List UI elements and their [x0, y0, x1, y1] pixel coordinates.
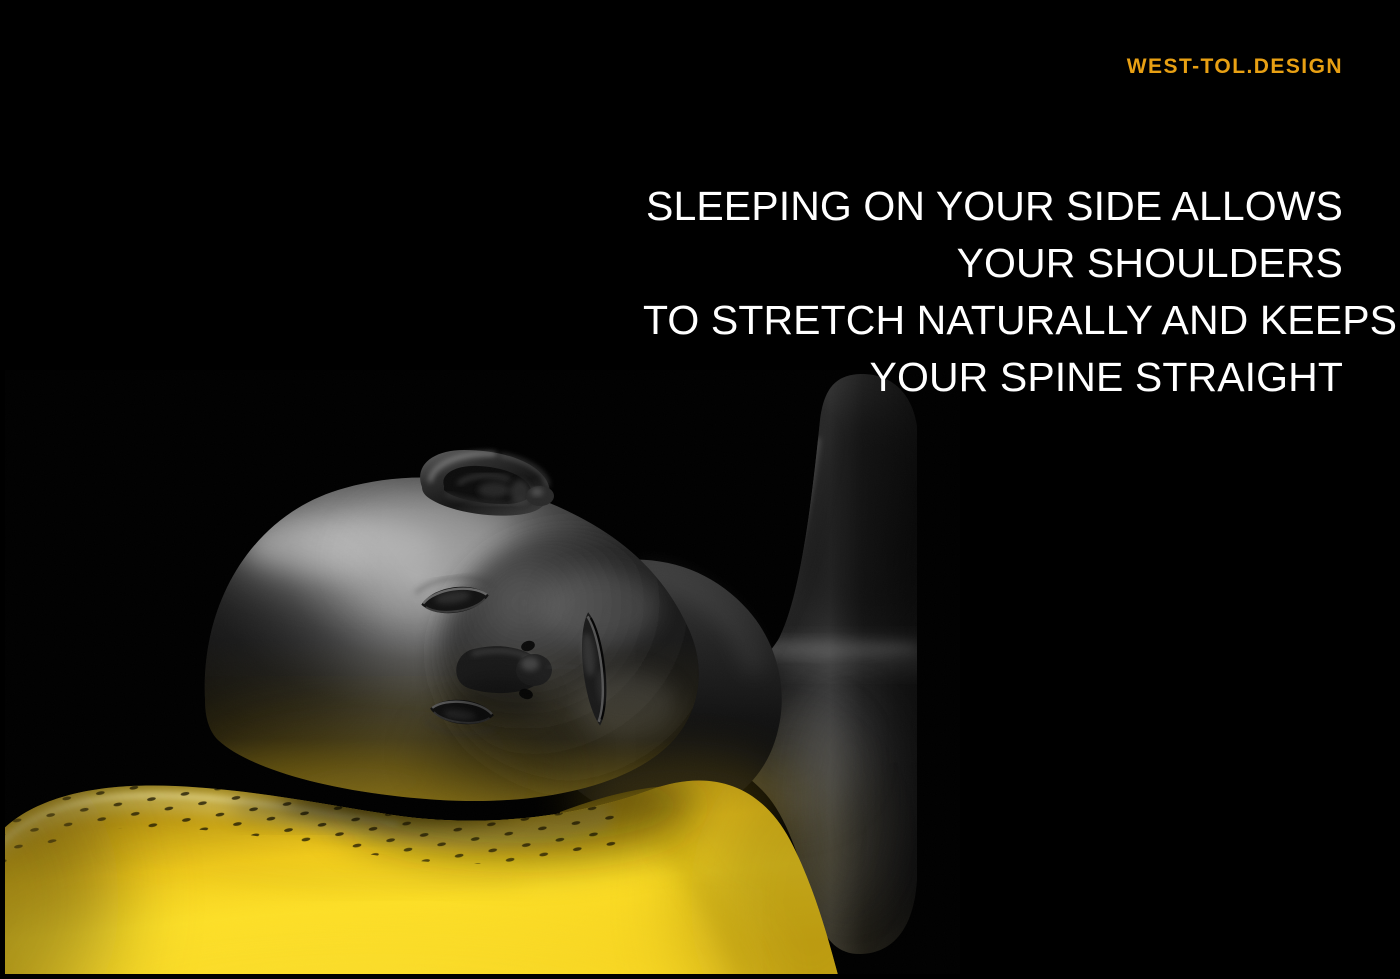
headline-line-1: SLEEPING ON YOUR SIDE ALLOWS: [643, 178, 1343, 235]
poster-canvas: WEST-TOL.DESIGN SLEEPING ON YOUR SIDE AL…: [0, 0, 1400, 979]
headline-line-2: YOUR SHOULDERS: [643, 235, 1343, 292]
headline-line-4: YOUR SPINE STRAIGHT: [643, 349, 1343, 406]
brand-lockup: WEST-TOL.DESIGN: [1127, 56, 1343, 77]
render-artwork: [0, 0, 1400, 979]
headline-block: SLEEPING ON YOUR SIDE ALLOWS YOUR SHOULD…: [643, 178, 1343, 406]
headline-line-3: TO STRETCH NATURALLY AND KEEPS: [643, 292, 1343, 349]
brand-wordmark: WEST-TOL.DESIGN: [1127, 56, 1343, 77]
product-render-scene: [0, 0, 1400, 979]
render-grain: [0, 370, 960, 979]
